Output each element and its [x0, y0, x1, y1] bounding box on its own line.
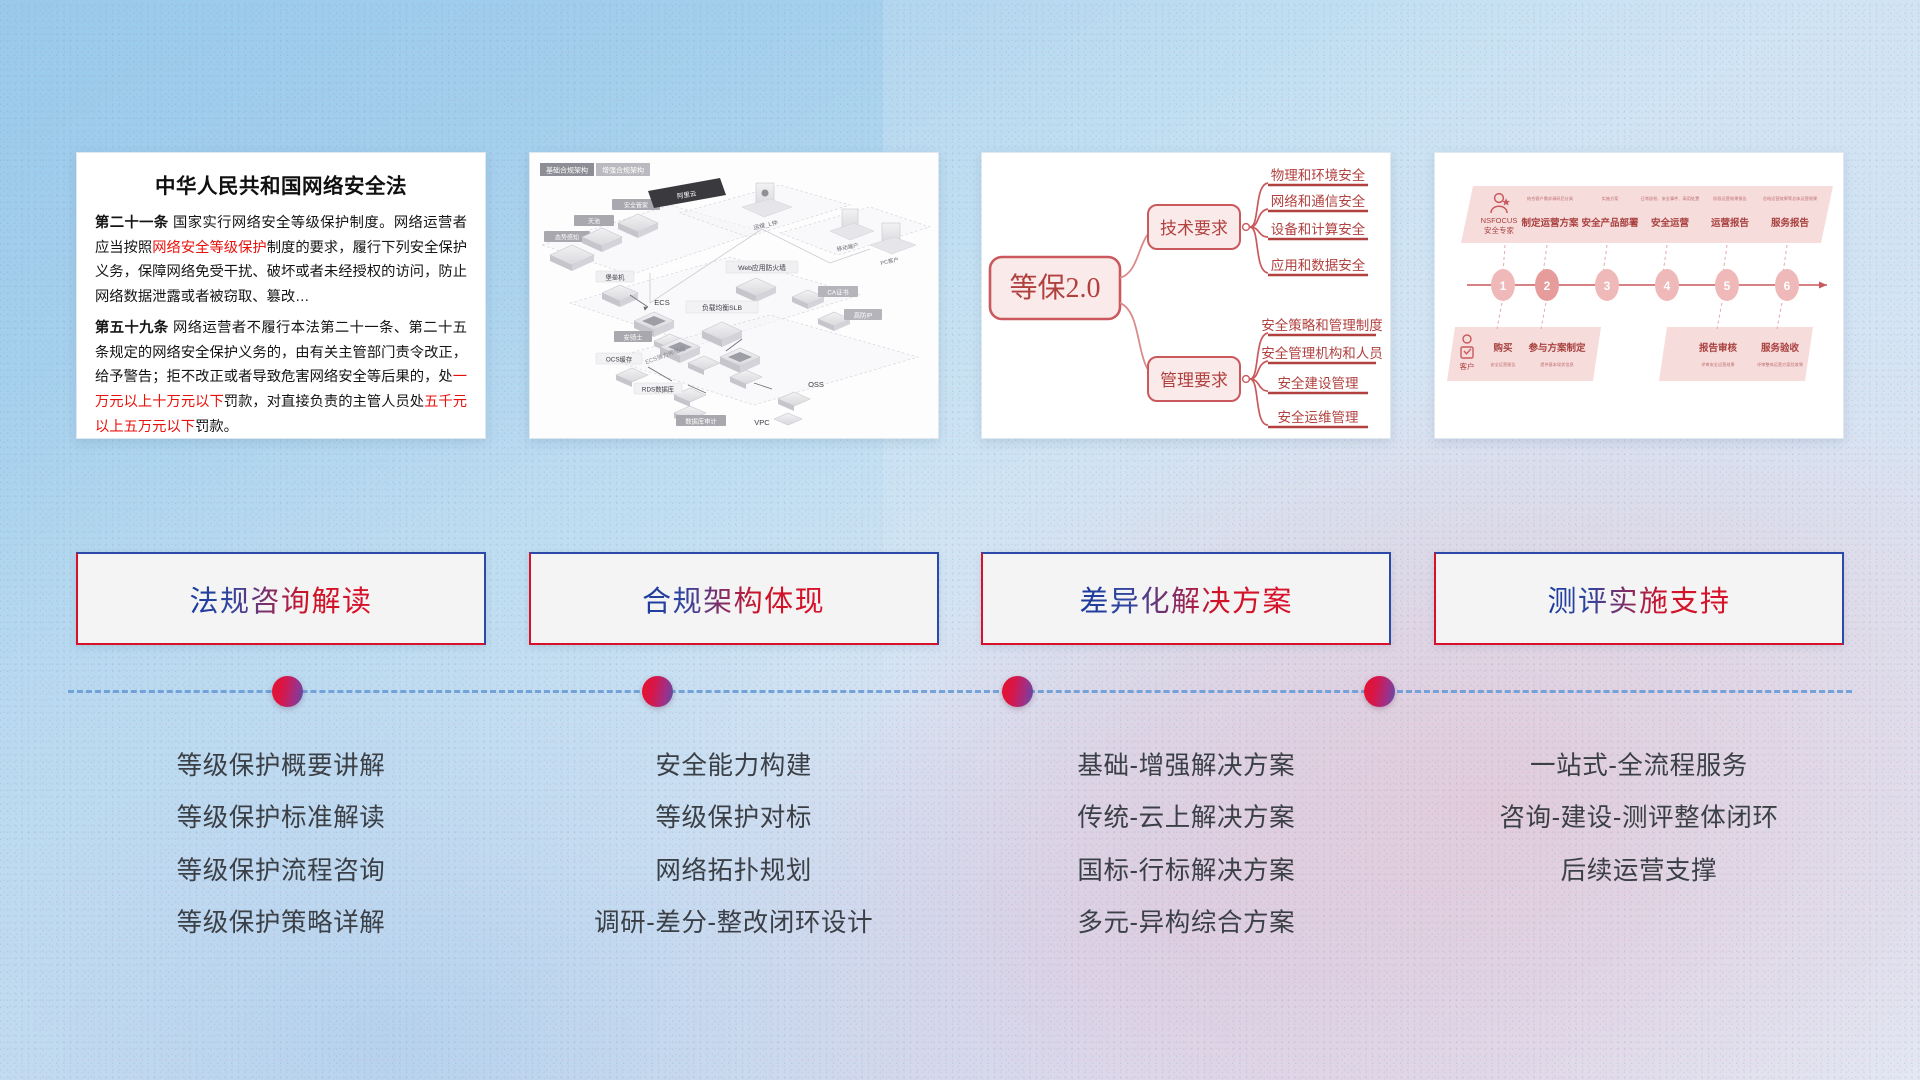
mindmap-branch-1-leaf-1: 安全管理机构和人员 — [1262, 345, 1384, 361]
nsfocus-step-num-4: 5 — [1724, 279, 1731, 293]
mindmap-branch-0-leaf-1: 网络和通信安全 — [1271, 193, 1366, 209]
mindmap-branch-1-label: 管理要求 — [1160, 371, 1228, 390]
nsfocus-top-title-4: 服务报告 — [1771, 217, 1810, 229]
timeline — [68, 690, 1852, 693]
nsfocus-top-sub-0: 结合客户需求调研后分具 — [1527, 195, 1574, 202]
list-item: 传统-云上解决方案 — [1077, 793, 1295, 846]
svg-text:Web应用防火墙: Web应用防火墙 — [738, 263, 786, 272]
nsfocus-top-sub-1: 实施方案 — [1602, 195, 1620, 202]
list-item: 咨询-建设-测评整体闭环 — [1499, 793, 1778, 846]
detail-column-3: 一站式-全流程服务 咨询-建设-测评整体闭环 后续运营支撑 — [1434, 740, 1844, 950]
architecture-svg: 态势感知 天池 安全管家 阿里云 — [530, 153, 939, 439]
nsfocus-step-num-1: 2 — [1544, 279, 1551, 293]
nsfocus-expert-line2: 安全专家 — [1484, 225, 1514, 235]
detail-column-0: 等级保护概要讲解 等级保护标准解读 等级保护流程咨询 等级保护策略详解 — [76, 740, 486, 950]
svg-text:态势感知: 态势感知 — [555, 234, 579, 242]
svg-text:高防IP: 高防IP — [853, 311, 872, 320]
svg-text:天池: 天池 — [588, 218, 600, 226]
list-item: 调研-差分-整改闭环设计 — [594, 898, 873, 951]
nsfocus-top-title-0: 制定运营方案 — [1521, 217, 1579, 229]
nsfocus-expert-line1: NSFOCUS — [1481, 216, 1518, 225]
detail-column-2: 基础-增强解决方案 传统-云上解决方案 国标-行标解决方案 多元-异构综合方案 — [981, 740, 1391, 950]
detail-columns-row: 等级保护概要讲解 等级保护标准解读 等级保护流程咨询 等级保护策略详解 安全能力… — [76, 740, 1844, 950]
law-article-59: 第五十九条 网络运营者不履行本法第二十一条、第二十五条规定的网络安全保护义务的，… — [95, 316, 467, 439]
svg-text:RDS数据库: RDS数据库 — [642, 385, 674, 394]
list-item: 后续运营支撑 — [1561, 845, 1718, 898]
list-item: 多元-异构综合方案 — [1077, 898, 1295, 951]
svg-text:数据库审计: 数据库审计 — [685, 417, 717, 426]
nsfocus-bottom-title-3: 服务验收 — [1761, 342, 1800, 354]
mindmap-svg: 等保2.0 技术要求 物理和环境安全 — [982, 153, 1391, 439]
nsfocus-bottom-title-1: 参与方案制定 — [1527, 342, 1586, 354]
nsfocus-top-title-2: 安全运营 — [1651, 217, 1690, 229]
timeline-dot-2[interactable] — [1002, 676, 1033, 707]
nsfocus-top-title-3: 运营报告 — [1711, 217, 1750, 229]
list-item: 等级保护对标 — [655, 793, 812, 846]
heading-box-2[interactable]: 差异化解决方案 — [981, 552, 1391, 645]
card-architecture-diagram[interactable]: 态势感知 天池 安全管家 阿里云 — [529, 152, 939, 439]
svg-text:安骑士: 安骑士 — [623, 333, 642, 342]
arch-tab-basic: 基础合规架构 — [546, 166, 588, 175]
svg-text:安全管家: 安全管家 — [624, 202, 648, 210]
detail-column-1: 安全能力构建 等级保护对标 网络拓扑规划 调研-差分-整改闭环设计 — [529, 740, 939, 950]
law-article-21: 第二十一条 国家实行网络安全等级保护制度。网络运营者应当按照网络安全等级保护制度… — [95, 211, 467, 309]
timeline-dashed-line — [68, 690, 1852, 693]
law-article-59-label: 第五十九条 — [95, 320, 169, 336]
law-article-59-text-b: 罚款，对直接负责的主管人员处 — [224, 394, 424, 410]
card-law-text[interactable]: 中华人民共和国网络安全法 第二十一条 国家实行网络安全等级保护制度。网络运营者应… — [76, 152, 486, 439]
mindmap-root-label: 等保2.0 — [1010, 272, 1101, 304]
nsfocus-top-sub-3: 阶段运营效果报告 — [1713, 195, 1747, 202]
svg-text:CA证书: CA证书 — [827, 288, 848, 297]
list-item: 等级保护标准解读 — [177, 793, 386, 846]
law-article-59-text-c: 罚款。 — [195, 419, 238, 435]
svg-text:OCS缓存: OCS缓存 — [606, 355, 633, 364]
mindmap-branch-0-leaf-0: 物理和环境安全 — [1271, 167, 1366, 183]
arch-tab-enhanced: 增强合规架构 — [602, 166, 644, 175]
svg-text:堡垒机: 堡垒机 — [605, 273, 625, 282]
list-item: 等级保护流程咨询 — [177, 845, 386, 898]
heading-label-0: 法规咨询解读 — [189, 578, 372, 620]
nsfocus-step-num-3: 4 — [1664, 279, 1671, 293]
svg-text:负载均衡SLB: 负载均衡SLB — [702, 303, 743, 312]
preview-cards-row: 中华人民共和国网络安全法 第二十一条 国家实行网络安全等级保护制度。网络运营者应… — [76, 152, 1844, 439]
svg-text:VPC: VPC — [754, 418, 770, 427]
nsfocus-bottom-sub-2: 评审安全运营效果 — [1701, 361, 1735, 368]
mindmap-branch-1-leaf-0: 安全策略和管理制度 — [1262, 317, 1384, 333]
svg-text:OSS: OSS — [808, 380, 824, 389]
nsfocus-bottom-sub-3: 评审整体运营方案验收果 — [1757, 361, 1804, 368]
heading-label-3: 测评实施支持 — [1547, 578, 1730, 620]
nsfocus-step-num-2: 3 — [1604, 279, 1611, 293]
nsfocus-bottom-title-0: 购买 — [1493, 342, 1513, 354]
nsfocus-bottom-sub-0: 安全运营报告 — [1490, 361, 1515, 368]
card-nsfocus-timeline[interactable]: NSFOCUS 安全专家 结合客户需求调研后分具 制定运营方案 实施方案 安全产… — [1434, 152, 1844, 439]
heading-label-2: 差异化解决方案 — [1080, 578, 1294, 620]
card-mindmap[interactable]: 等保2.0 技术要求 物理和环境安全 — [981, 152, 1391, 439]
heading-box-3[interactable]: 测评实施支持 — [1434, 552, 1844, 645]
list-item: 国标-行标解决方案 — [1077, 845, 1295, 898]
list-item: 等级保护策略详解 — [177, 898, 386, 951]
law-article-21-label: 第二十一条 — [95, 215, 169, 231]
timeline-dot-0[interactable] — [272, 676, 303, 707]
mindmap-branch-1-leaf-3: 安全运维管理 — [1278, 409, 1359, 425]
nsfocus-top-sub-2: 日常巡检、安全事件、高用处置 — [1641, 195, 1700, 202]
nsfocus-step-num-5: 6 — [1784, 279, 1791, 293]
nsfocus-top-sub-4: 总结运营效果等总体运营效果 — [1763, 195, 1818, 202]
list-item: 基础-增强解决方案 — [1077, 740, 1295, 793]
mindmap-branch-1-leaf-2: 安全建设管理 — [1278, 375, 1359, 391]
heading-box-0[interactable]: 法规咨询解读 — [76, 552, 486, 645]
nsfocus-top-title-1: 安全产品部署 — [1581, 217, 1639, 229]
nsfocus-customer-label: 客户 — [1459, 361, 1474, 371]
timeline-dot-3[interactable] — [1364, 676, 1395, 707]
list-item: 网络拓扑规划 — [655, 845, 812, 898]
nsfocus-svg: NSFOCUS 安全专家 结合客户需求调研后分具 制定运营方案 实施方案 安全产… — [1435, 153, 1844, 439]
mindmap-branch-0-leaf-2: 设备和计算安全 — [1271, 221, 1366, 237]
mindmap-branch-0-leaf-3: 应用和数据安全 — [1271, 257, 1366, 273]
law-title: 中华人民共和国网络安全法 — [95, 169, 467, 199]
svg-text:ECS: ECS — [654, 298, 669, 307]
list-item: 安全能力构建 — [655, 740, 812, 793]
heading-label-1: 合规架构体现 — [642, 578, 825, 620]
mindmap-branch-0-label: 技术要求 — [1160, 219, 1228, 238]
nsfocus-step-num-0: 1 — [1500, 279, 1507, 293]
nsfocus-bottom-title-2: 报告审核 — [1699, 342, 1738, 354]
nsfocus-bottom-sub-1: 提供基本现状信息 — [1540, 361, 1574, 368]
heading-box-1[interactable]: 合规架构体现 — [529, 552, 939, 645]
list-item: 等级保护概要讲解 — [177, 740, 386, 793]
list-item: 一站式-全流程服务 — [1530, 740, 1748, 793]
timeline-dot-1[interactable] — [642, 676, 673, 707]
law-article-21-highlight: 网络安全等级保护 — [152, 240, 266, 256]
heading-boxes-row: 法规咨询解读 合规架构体现 差异化解决方案 测评实施支持 — [76, 552, 1844, 645]
